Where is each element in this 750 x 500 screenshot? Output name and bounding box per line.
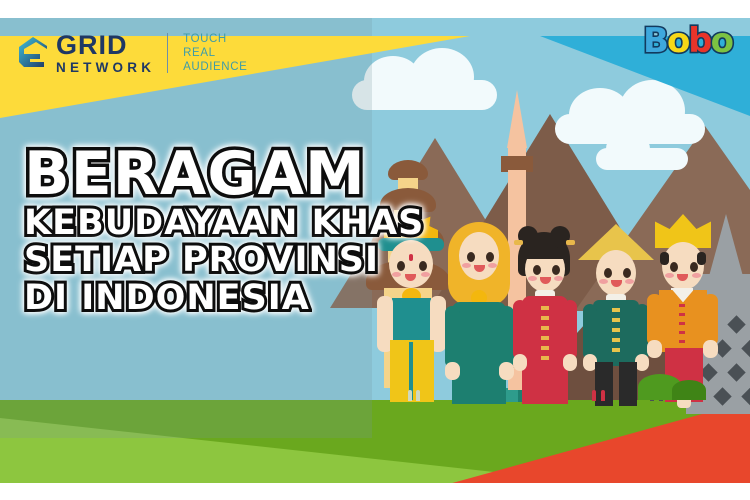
hand-left [445,362,460,380]
hand-right [703,340,718,358]
grid-tagline: TOUCH REAL AUDIENCE [183,32,247,74]
cheek-left [665,273,674,278]
vest-buttons [679,304,685,348]
headline-block: BERAGAM KEBUDAYAAN KHAS SETIAP PROVINSI … [24,146,424,317]
grass-blade-3 [592,390,596,401]
arm-left [583,304,597,360]
eye-left [604,268,612,278]
eye-left [533,265,541,275]
hairpin-left [514,240,523,245]
arm-left [445,306,460,368]
arm-right [563,300,577,360]
top-white-strip [0,0,750,18]
arm-left [647,294,662,346]
thumbnail-canvas: BERAGAM KEBUDAYAAN KHAS SETIAP PROVINSI … [0,0,750,500]
arm-left [513,300,527,360]
tagline-line-1: TOUCH [183,32,247,46]
network-text: NETWORK [56,61,155,75]
logo-divider [167,33,168,73]
eye-left [467,252,475,262]
hand-right [563,354,577,371]
headline-line-3: SETIAP PROVINSI [24,243,424,279]
grass-blade-1 [408,390,412,401]
bobo-letter-4: o [711,24,734,58]
arm-right [703,294,718,346]
grid-network-wordmark: GRID NETWORK [56,32,155,75]
headline-line-2: KEBUDAYAAN KHAS [24,206,424,242]
trousers-right [619,362,637,406]
eye-right [690,262,698,272]
hairpin-right [566,240,575,245]
cheek-right [625,279,634,284]
cloud-small [596,148,688,170]
hand-left [647,340,662,358]
grid-network-logo[interactable]: GRID NETWORK TOUCH REAL AUDIENCE [18,32,247,75]
bangs [525,246,565,259]
grid-network-mark-icon [18,36,48,70]
grass-blade-4 [601,390,605,401]
cheek-right [692,273,701,278]
cheek-left [462,263,471,268]
bottom-white-strip [0,483,750,500]
frog-buttons [612,308,620,358]
bobo-letter-2: o [667,24,690,58]
cheek-left [599,279,608,284]
tagline-line-2: REAL [183,46,247,60]
headline-line-1: BERAGAM [24,146,424,204]
grid-text: GRID [56,32,155,59]
eye-right [552,265,560,275]
hand-left [513,354,527,371]
headline-line-4: DI INDONESIA [24,281,424,317]
sideburn-left [660,252,669,265]
bobo-letter-3: b [688,24,712,58]
cheek-right [554,276,563,281]
figure-hijab [443,222,515,404]
bobo-logo[interactable]: B o b o [643,24,734,58]
robe [452,302,506,404]
eye-left [670,262,678,272]
illustration-area: BERAGAM KEBUDAYAAN KHAS SETIAP PROVINSI … [0,18,750,483]
grass-blade-2 [416,390,420,401]
figure-chinese-dress [510,224,580,404]
bobo-letter-1: B [643,24,669,58]
cloud-left [352,80,497,110]
bush-right [672,380,706,400]
cheek-left [528,276,537,281]
sideburn-right [697,252,706,265]
tagline-line-3: AUDIENCE [183,60,247,74]
cheek-right [488,263,497,268]
eye-right [486,252,494,262]
frog-buttons [541,306,549,362]
eye-right [623,268,631,278]
